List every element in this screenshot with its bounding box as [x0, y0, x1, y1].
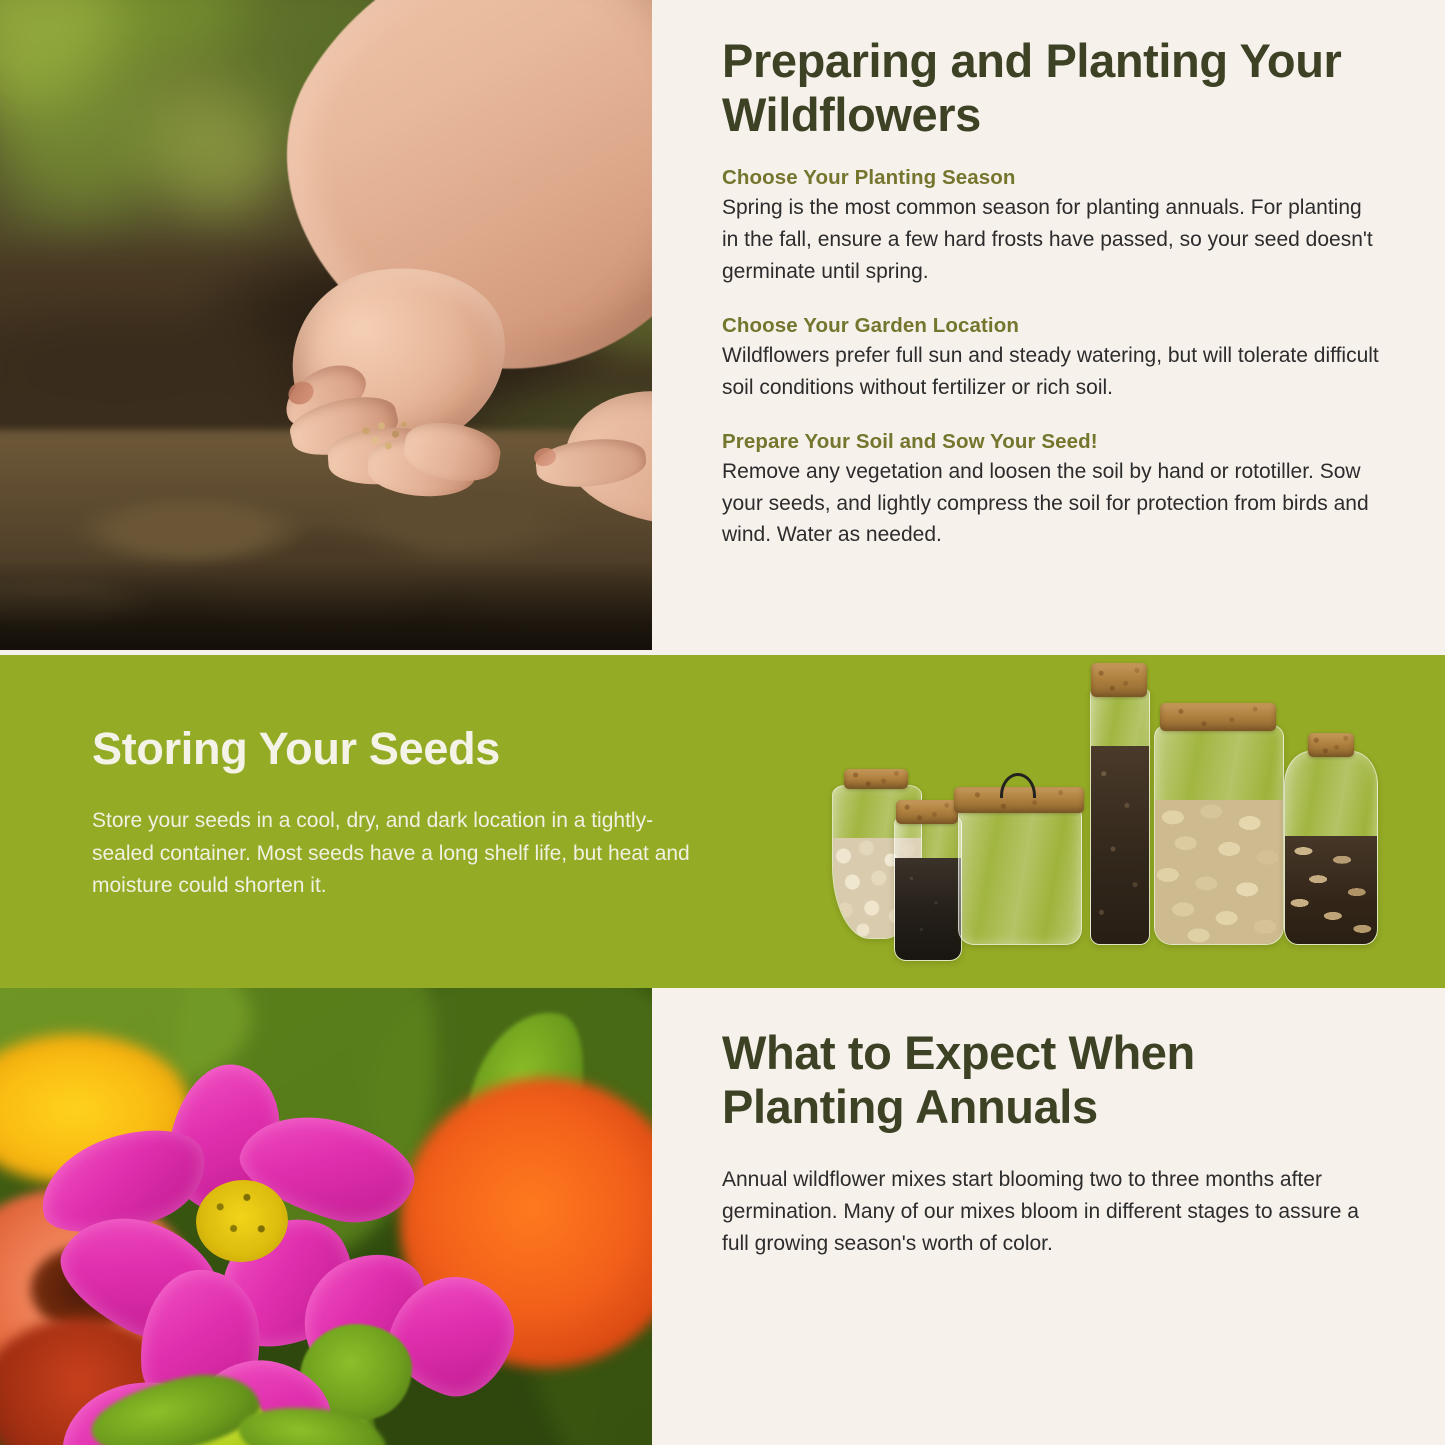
jar-contents-tan-grain [959, 852, 1081, 944]
page-title: Preparing and Planting Your Wildflowers [722, 34, 1382, 142]
seed-jar-tan-grain [958, 807, 1080, 943]
soil-shadow-vignette [0, 560, 652, 650]
jar-contents-sunflower-seeds [1285, 836, 1377, 944]
section-what-to-expect: What to Expect When Planting Annuals Ann… [0, 988, 1445, 1445]
seed-jar-black-seeds [894, 817, 960, 959]
cork-lid [1160, 703, 1276, 731]
jar-contents-black-seeds [895, 858, 961, 960]
jar-glass [1154, 725, 1284, 945]
section-preparing-and-planting: Preparing and Planting Your Wildflowers … [0, 0, 1445, 655]
body-garden-location: Wildflowers prefer full sun and steady w… [722, 340, 1382, 404]
seed-jar-pumpkin-seeds [1154, 725, 1282, 943]
jar-contents-pumpkin-seeds [1155, 800, 1283, 944]
expect-text-column: What to Expect When Planting Annuals Ann… [722, 1026, 1382, 1260]
hand-sowing-seeds-in-soil-photo [0, 0, 652, 650]
cork-lid [844, 769, 908, 789]
seeds-in-hand [352, 414, 422, 456]
storing-title: Storing Your Seeds [92, 723, 712, 775]
subheading-garden-location: Choose Your Garden Location [722, 314, 1382, 338]
seed-jar-sunflower-seeds [1284, 751, 1376, 943]
cork-lid [896, 800, 958, 824]
expect-body: Annual wildflower mixes start blooming t… [722, 1164, 1382, 1260]
body-prepare-soil: Remove any vegetation and loosen the soi… [722, 456, 1382, 552]
body-planting-season: Spring is the most common season for pla… [722, 192, 1382, 288]
subheading-planting-season: Choose Your Planting Season [722, 166, 1382, 190]
jar-glass [958, 807, 1082, 945]
pink-cosmos-and-orange-zinnia-flowers-photo [0, 988, 652, 1445]
jar-contents-dark-seeds [1091, 746, 1149, 944]
expect-title: What to Expect When Planting Annuals [722, 1026, 1382, 1134]
jar-glass [1090, 689, 1150, 945]
cork-lid [1308, 733, 1354, 757]
glass-jars-of-seeds-photo [832, 685, 1392, 985]
seed-jar-tall-tube [1090, 689, 1148, 943]
wire-handle [1000, 773, 1036, 798]
planting-text-column: Preparing and Planting Your Wildflowers … [722, 34, 1382, 551]
storing-text-column: Storing Your Seeds Store your seeds in a… [92, 723, 712, 903]
infographic-page: Preparing and Planting Your Wildflowers … [0, 0, 1445, 1445]
cork-lid [1091, 663, 1147, 697]
subheading-prepare-soil: Prepare Your Soil and Sow Your Seed! [722, 430, 1382, 454]
storing-body: Store your seeds in a cool, dry, and dar… [92, 805, 712, 903]
section-storing-your-seeds: Storing Your Seeds Store your seeds in a… [0, 655, 1445, 988]
jar-glass [894, 817, 962, 961]
jar-glass [1284, 751, 1378, 945]
